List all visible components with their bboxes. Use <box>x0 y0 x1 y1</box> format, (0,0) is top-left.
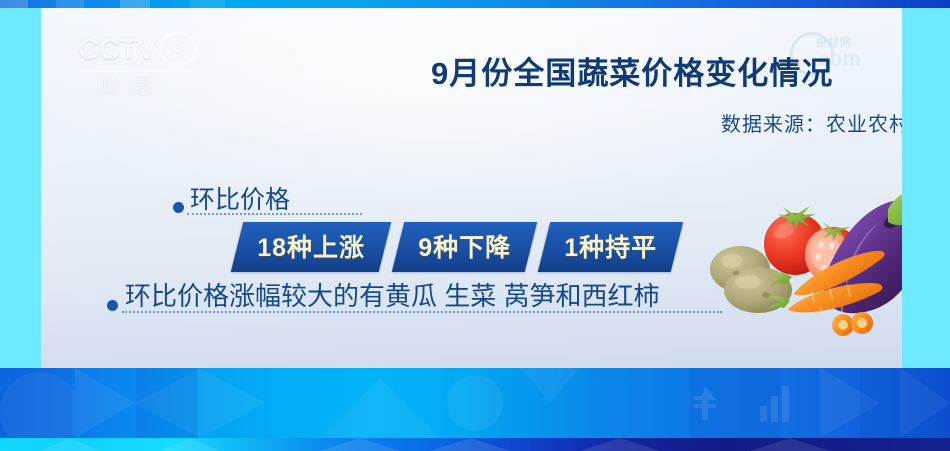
bottom-banner <box>0 368 950 451</box>
broadcast-graphic: CCTV 2 财经 央视网 .com 9月份全国蔬菜价格变化情况 数据来源：农业… <box>0 0 950 451</box>
bullet-label-top-risers: 环比价格涨幅较大的有黄瓜 生菜 莴笋和西红柿 <box>125 276 659 313</box>
bullet-dot-icon <box>173 202 184 213</box>
vegetables-illustration <box>696 183 902 338</box>
data-source-label: 数据来源：农业农村部 <box>471 108 902 137</box>
bullet-label-price-mom: 环比价格 <box>190 180 290 216</box>
top-accent-strip <box>0 0 950 8</box>
content-panel: CCTV 2 财经 央视网 .com 9月份全国蔬菜价格变化情况 数据来源：农业… <box>41 8 902 368</box>
stat-badge-falling-label: 9种下降 <box>418 228 511 264</box>
stat-badge-rising-label: 18种上涨 <box>257 228 365 264</box>
cctv-channel-logo: CCTV 2 财经 <box>78 35 208 97</box>
cctv-logo-subtitle: 财经 <box>100 72 166 99</box>
banner-geometry <box>0 368 950 438</box>
top-accent-blocks <box>0 0 300 8</box>
stat-badge-rising[interactable]: 18种上涨 <box>231 222 391 272</box>
stat-badge-flat[interactable]: 1种持平 <box>537 222 682 272</box>
bullet-dot-icon <box>107 300 118 311</box>
left-cyan-bar <box>0 8 41 368</box>
stat-badge-group: 18种上涨 9种下降 1种持平 <box>237 222 677 272</box>
page-title: 9月份全国蔬菜价格变化情况 <box>431 48 902 93</box>
right-cyan-bar <box>902 8 950 368</box>
cctv-channel-number: 2 <box>160 32 196 66</box>
stat-badge-falling[interactable]: 9种下降 <box>392 222 537 272</box>
banner-bottom-geometry <box>0 438 950 451</box>
stat-badge-flat-label: 1种持平 <box>564 228 657 264</box>
